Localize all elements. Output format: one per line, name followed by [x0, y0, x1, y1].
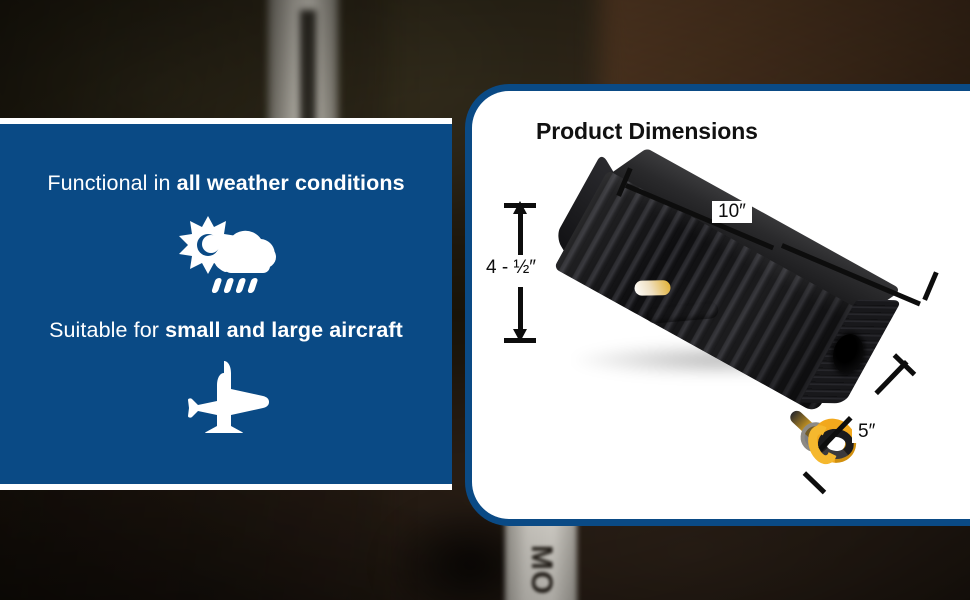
feature-weather-text: Functional in all weather conditions — [0, 171, 452, 196]
feature-item-weather: Functional in all weather conditions — [0, 171, 452, 296]
dim-height-cap-bottom — [504, 338, 536, 343]
dim-width-cap-bottom — [803, 472, 826, 495]
feature-aircraft-text-regular: Suitable for — [49, 318, 165, 342]
feature-weather-text-regular: Functional in — [47, 171, 176, 195]
dim-length-label: 10″ — [712, 201, 752, 223]
product-image: 10″ 4 - ½″ 5″ — [472, 91, 970, 519]
dim-height-line-bottom — [518, 287, 523, 335]
feature-panel: Functional in all weather conditions — [0, 118, 452, 490]
dim-height-label: 4 - ½″ — [480, 257, 542, 279]
dim-width-line-a — [874, 360, 908, 395]
wheel-chock-body — [559, 143, 890, 424]
sun-cloud-rain-icon — [0, 210, 452, 296]
feature-weather-text-bold: all weather conditions — [177, 171, 405, 195]
dim-width-label: 5″ — [852, 421, 881, 443]
rope-left-tail — [634, 280, 670, 296]
airplane-icon — [0, 357, 452, 433]
feature-aircraft-text-bold: small and large aircraft — [165, 318, 403, 342]
dim-height-line-top — [518, 207, 523, 255]
feature-item-aircraft: Suitable for small and large aircraft — [0, 318, 452, 433]
dim-length-cap-end — [922, 271, 938, 300]
dimensions-panel: Product Dimensions 10″ — [465, 84, 970, 526]
feature-aircraft-text: Suitable for small and large aircraft — [0, 318, 452, 343]
